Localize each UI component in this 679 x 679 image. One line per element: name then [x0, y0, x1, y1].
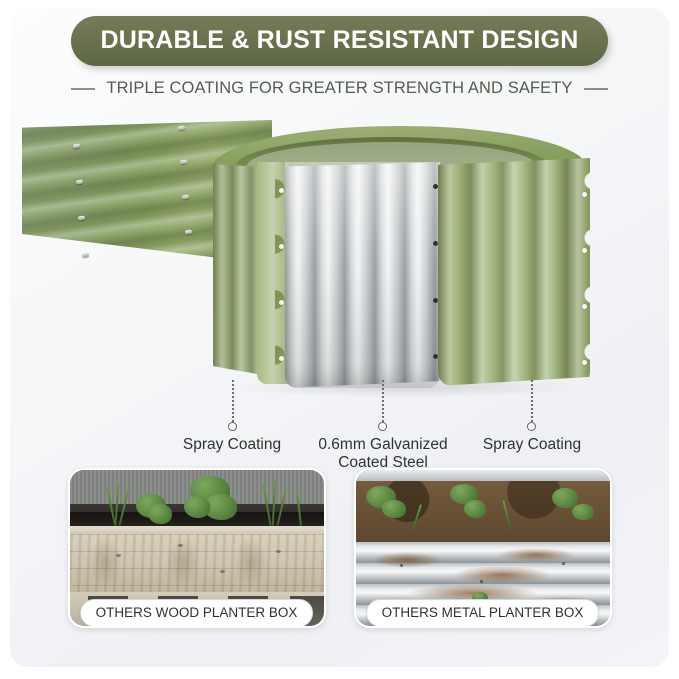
wood-knot [220, 570, 225, 573]
comparison-panel-metal[interactable]: OTHERS METAL PLANTER BOX [354, 468, 612, 628]
callout-marker [228, 422, 237, 431]
rivet-icon [279, 300, 284, 305]
rivet-icon [582, 192, 587, 197]
rust-stain [452, 566, 552, 584]
panel-caption-wood: OTHERS WOOD PLANTER BOX [80, 599, 314, 627]
green-coating-right [438, 158, 590, 386]
header: DURABLE & RUST RESISTANT DESIGN TRIPLE C… [10, 16, 669, 98]
infographic-card: DURABLE & RUST RESISTANT DESIGN TRIPLE C… [10, 8, 669, 667]
plant-leaf [552, 488, 578, 508]
plant-leaf [148, 504, 172, 524]
subtitle-row: TRIPLE COATING FOR GREATER STRENGTH AND … [10, 79, 669, 98]
wood-weather-stain [166, 536, 200, 588]
plant-leaf [184, 496, 210, 518]
rivet-icon [400, 564, 403, 567]
banner-wrap: DURABLE & RUST RESISTANT DESIGN [71, 16, 609, 66]
wood-knot [116, 554, 121, 557]
planter-top-rail [356, 470, 610, 481]
comparison-panels: OTHERS WOOD PLANTER BOX [10, 468, 669, 628]
galvanized-steel-gloss [285, 162, 440, 388]
wood-knot [276, 550, 281, 553]
rivet-icon [582, 248, 587, 253]
rust-stain [372, 552, 442, 568]
callout-label-spray-coating-right: Spray Coating [462, 436, 602, 454]
wood-weather-stain [234, 536, 268, 588]
wood-knot [178, 544, 183, 547]
rivet-icon [279, 244, 284, 249]
dash-left-icon [71, 88, 95, 90]
screw-icon [82, 252, 90, 257]
rivet-icon [562, 562, 565, 565]
panel-caption-metal: OTHERS METAL PLANTER BOX [366, 599, 600, 627]
plant-leaf [572, 504, 594, 520]
rivet-icon [433, 354, 438, 359]
banner-title: DURABLE & RUST RESISTANT DESIGN [71, 16, 609, 66]
callout-label-spray-coating-left: Spray Coating [162, 436, 302, 454]
rivet-icon [279, 356, 284, 361]
hero-product-illustration [10, 108, 669, 408]
rivet-icon [433, 184, 438, 189]
dash-right-icon [584, 88, 608, 90]
rivet-icon [480, 580, 483, 583]
comparison-panel-wood[interactable]: OTHERS WOOD PLANTER BOX [68, 468, 326, 628]
callout-marker [378, 422, 387, 431]
plant-leaf [382, 500, 406, 518]
wood-weather-stain [88, 536, 122, 588]
plant-leaf [464, 500, 486, 518]
callout-marker [527, 422, 536, 431]
rivet-icon [582, 360, 587, 365]
rust-stain [496, 548, 576, 562]
rivet-icon [582, 304, 587, 309]
rivet-icon [433, 241, 438, 246]
rivet-icon [279, 188, 284, 193]
subtitle-text: TRIPLE COATING FOR GREATER STRENGTH AND … [106, 79, 572, 98]
infographic-page: DURABLE & RUST RESISTANT DESIGN TRIPLE C… [0, 0, 679, 679]
raised-garden-bed [205, 126, 595, 401]
rivet-icon [433, 298, 438, 303]
